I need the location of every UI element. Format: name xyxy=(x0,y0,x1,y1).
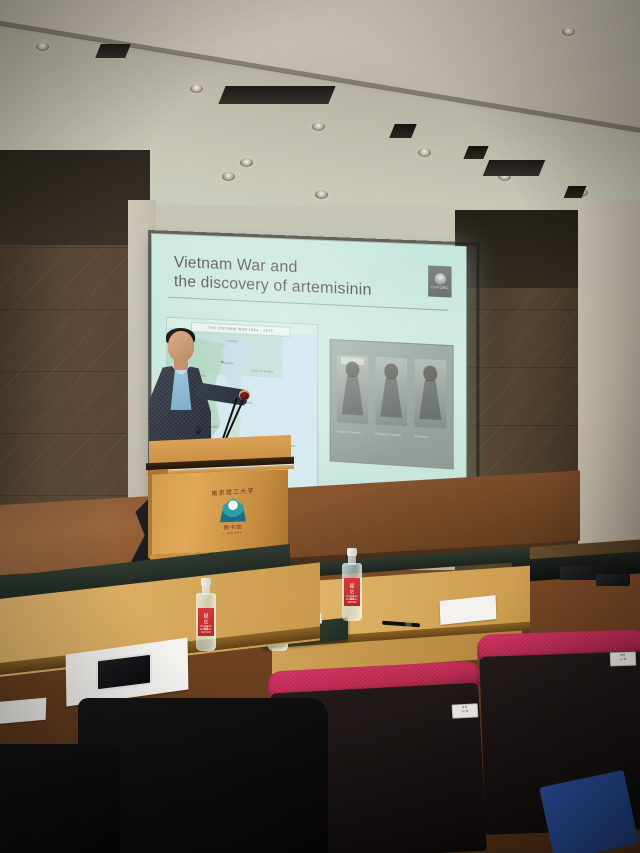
oxford-logo-word: OXFORD xyxy=(431,285,449,290)
downlight-icon xyxy=(36,42,49,51)
seat-number-label: 排号 14 座 xyxy=(610,652,636,667)
control-desk-equipment xyxy=(596,574,630,586)
portrait-caption: Tu Youyou xyxy=(414,435,446,462)
portrait-photo xyxy=(375,357,407,427)
bottle-label: 昆仑山 NATURAL MINERAL WATER xyxy=(198,608,214,636)
portrait-head xyxy=(346,361,360,377)
ceiling-vent-icon xyxy=(218,86,335,104)
downlight-icon xyxy=(562,27,575,36)
microphone-icon xyxy=(195,426,201,434)
bottle-brand-en: NATURAL MINERAL WATER xyxy=(344,595,360,604)
portrait-caption: Researcher portrait xyxy=(375,433,407,460)
portrait-photo xyxy=(414,359,446,429)
downlight-icon xyxy=(190,84,203,93)
slide-title: Vietnam War and the discovery of artemis… xyxy=(174,253,431,303)
emblem-arc-text: 南京理工大学 xyxy=(205,485,261,498)
black-coat-on-seat xyxy=(0,744,120,853)
bottle-label: 昆仑山 NATURAL MINERAL WATER xyxy=(344,578,360,606)
portrait-head xyxy=(423,365,437,381)
tablet-device xyxy=(96,653,152,692)
emblem-book-icon xyxy=(220,498,246,523)
downlight-icon xyxy=(315,190,328,199)
portrait-body xyxy=(342,375,364,415)
seat-number-text: 12 座 xyxy=(453,709,477,714)
map-city-dot xyxy=(221,361,223,363)
map-label: CHINA xyxy=(227,339,237,344)
portrait-row xyxy=(337,355,446,433)
portrait-caption: Soldier in the field xyxy=(337,430,368,457)
portrait-caption-row: Soldier in the field Researcher portrait… xyxy=(337,430,446,461)
downlight-icon xyxy=(418,148,431,157)
university-emblem: 南京理工大学 图书馆 LIBRARY xyxy=(205,486,261,546)
map-label: HANOI xyxy=(223,361,234,366)
downlight-icon xyxy=(222,172,235,181)
lecture-hall-photo: Vietnam War and the discovery of artemis… xyxy=(0,0,640,853)
portrait-head xyxy=(384,363,398,379)
bottle-brand-en: NATURAL MINERAL WATER xyxy=(198,625,214,634)
slide-photo-panel: Soldier in the field Researcher portrait… xyxy=(330,339,454,469)
downlight-icon xyxy=(312,122,325,131)
portrait-body xyxy=(380,377,402,417)
laser-pointer-head xyxy=(240,392,249,400)
downlight-icon xyxy=(240,158,253,167)
seat-number-label: 排号 12 座 xyxy=(452,703,479,718)
portrait-body xyxy=(419,380,441,420)
seat-number-text: 14 座 xyxy=(611,658,635,663)
ceiling-vent-icon xyxy=(95,44,131,58)
emblem-library-en: LIBRARY xyxy=(205,530,261,536)
speaker-ear xyxy=(186,344,192,352)
ceiling-vent-icon xyxy=(483,160,545,176)
oxford-logo: OXFORD xyxy=(428,265,451,297)
portrait-photo xyxy=(337,355,368,424)
oxford-crest-icon xyxy=(434,273,446,285)
wall-panel-right-upper xyxy=(455,210,580,288)
